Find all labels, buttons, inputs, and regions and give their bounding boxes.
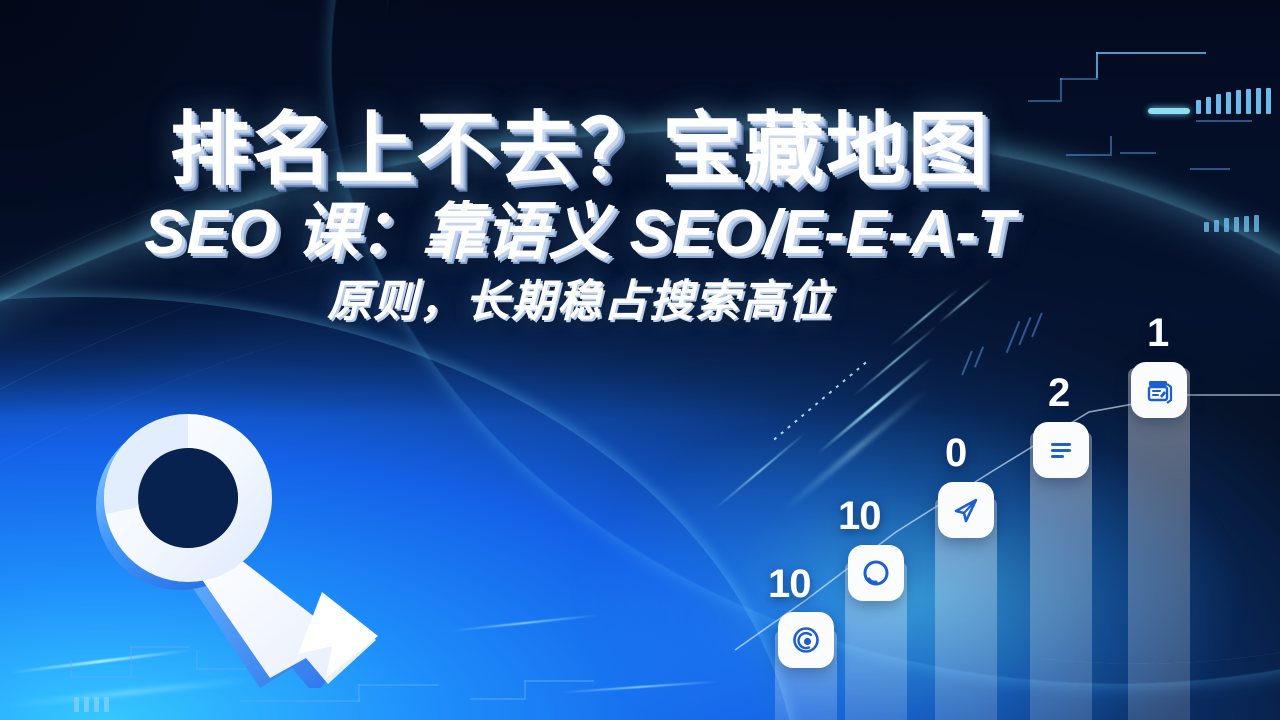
chart-bar-label: 10 bbox=[838, 494, 881, 539]
list-lines-icon bbox=[1045, 434, 1077, 466]
title-tagline: 原则，长期稳占搜索高位 bbox=[0, 277, 1160, 326]
seo-course-banner: 排名上不去？宝藏地图 SEO 课：靠语义 SEO/E-E-A-T 原则，长期稳占… bbox=[0, 0, 1280, 720]
circle-icon-tile bbox=[848, 545, 904, 601]
bar-chart: 10 10 0 2 1 bbox=[735, 300, 1280, 720]
page-title: 排名上不去？宝藏地图 bbox=[0, 108, 1160, 193]
send-icon bbox=[950, 494, 982, 526]
chart-bar-label: 10 bbox=[768, 562, 811, 607]
title-block: 排名上不去？宝藏地图 SEO 课：靠语义 SEO/E-E-A-T 原则，长期稳占… bbox=[0, 108, 1160, 326]
send-icon-tile bbox=[938, 482, 994, 538]
compass-icon-tile bbox=[778, 612, 834, 668]
list-lines-icon-tile bbox=[1033, 422, 1089, 478]
chart-bar-label: 0 bbox=[945, 431, 966, 476]
document-edit-icon-tile bbox=[1131, 362, 1187, 418]
document-edit-icon bbox=[1143, 374, 1175, 406]
compass-icon bbox=[790, 624, 822, 656]
chart-bar-label: 2 bbox=[1048, 371, 1069, 416]
title-subline: SEO 课：靠语义 SEO/E-E-A-T bbox=[0, 199, 1160, 267]
chart-bar bbox=[1128, 368, 1190, 720]
circle-icon bbox=[860, 557, 892, 589]
magnifying-glass-arrow-icon bbox=[70, 378, 420, 688]
